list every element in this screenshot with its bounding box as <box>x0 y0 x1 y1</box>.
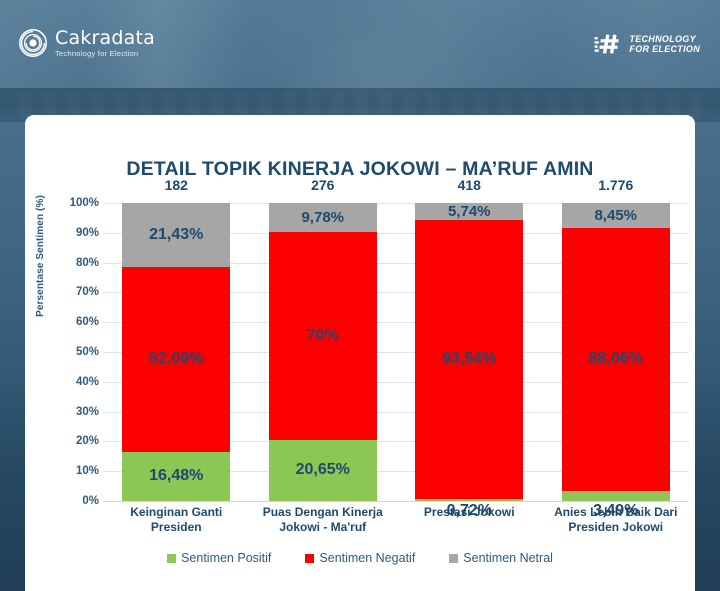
bar-segment-negatif[interactable]: 88,06% <box>562 228 670 490</box>
bar-segment-positif[interactable]: 3,49% <box>562 491 670 501</box>
bar-segment-netral[interactable]: 9,78% <box>269 203 377 232</box>
bar-segment-value-label: 20,65% <box>296 461 350 479</box>
bar-segment-netral[interactable]: 5,74% <box>415 203 523 220</box>
stacked-bars-group: 18221,43%62,09%16,48%2769,78%70%20,65%41… <box>103 203 689 501</box>
bar-segment-value-label: 70% <box>307 327 339 345</box>
y-axis-label: Persentase Sentimen (%) <box>35 181 46 331</box>
legend-label: Sentimen Positif <box>181 551 271 565</box>
legend-label: Sentimen Netral <box>463 551 553 565</box>
bar-segment-positif[interactable]: 20,65% <box>269 440 377 501</box>
bar-stack: 8,45%88,06%3,49% <box>562 203 670 501</box>
legend-swatch <box>449 554 458 563</box>
bar-total-label: 1.776 <box>543 177 690 193</box>
chart-card: DETAIL TOPIK KINERJA JOKOWI – MA’RUF AMI… <box>25 115 695 591</box>
x-axis-labels: Keinginan GantiPresidenPuas Dengan Kiner… <box>103 505 689 535</box>
bar-segment-value-label: 9,78% <box>301 209 344 226</box>
y-axis-tick-label: 80% <box>76 257 99 269</box>
right-logo-line1: TECHNOLOGY <box>629 34 700 44</box>
bar-segment-value-label: 93,54% <box>442 350 496 368</box>
y-axis-tick-label: 70% <box>76 286 99 298</box>
bar-segment-negatif[interactable]: 70% <box>269 232 377 440</box>
brand-logo-technology-for-election: TECHNOLOGY FOR ELECTION <box>594 33 700 55</box>
brand-tagline: Technology for Election <box>55 50 155 58</box>
bar-column[interactable]: 4185,74%93,54%0,72% <box>396 203 543 501</box>
right-logo-line2: FOR ELECTION <box>629 44 700 54</box>
chart-plot-area: Persentase Sentimen (%) 100%90%80%70%60%… <box>25 203 695 591</box>
legend-item[interactable]: Sentimen Negatif <box>305 551 415 565</box>
bar-segment-netral[interactable]: 8,45% <box>562 203 670 228</box>
page-header: Cakradata Technology for Election TECHNO… <box>0 0 720 95</box>
legend-swatch <box>167 554 176 563</box>
brand-name: Cakradata <box>55 29 155 48</box>
x-axis-category-label: Anies Lebih Baik DariPresiden Jokowi <box>543 505 690 535</box>
bar-segment-value-label: 5,74% <box>448 203 491 220</box>
legend-item[interactable]: Sentimen Positif <box>167 551 271 565</box>
bar-stack: 21,43%62,09%16,48% <box>122 203 230 501</box>
y-axis-tick-label: 10% <box>76 465 99 477</box>
bar-segment-positif[interactable]: 0,72% <box>415 499 523 501</box>
chart-legend: Sentimen PositifSentimen NegatifSentimen… <box>25 551 695 565</box>
bar-segment-positif[interactable]: 16,48% <box>122 452 230 501</box>
bar-segment-value-label: 21,43% <box>149 226 203 244</box>
bar-total-label: 182 <box>103 177 250 193</box>
legend-label: Sentimen Negatif <box>319 551 415 565</box>
bar-column[interactable]: 2769,78%70%20,65% <box>250 203 397 501</box>
bar-stack: 5,74%93,54%0,72% <box>415 203 523 501</box>
x-axis-category-label: Prestasi Jokowi <box>396 505 543 535</box>
bar-segment-negatif[interactable]: 62,09% <box>122 267 230 452</box>
bar-segment-value-label: 8,45% <box>594 207 637 224</box>
y-axis-tick-label: 20% <box>76 435 99 447</box>
bar-total-label: 418 <box>396 177 543 193</box>
bar-segment-value-label: 62,09% <box>149 350 203 368</box>
cakradata-spiral-icon <box>18 28 48 58</box>
legend-swatch <box>305 554 314 563</box>
bar-stack: 9,78%70%20,65% <box>269 203 377 501</box>
y-axis-tick-label: 60% <box>76 316 99 328</box>
y-axis-ticks: 100%90%80%70%60%50%40%30%20%10%0% <box>53 203 99 501</box>
y-axis-tick-label: 30% <box>76 406 99 418</box>
bar-segment-value-label: 16,48% <box>149 467 203 485</box>
bar-column[interactable]: 18221,43%62,09%16,48% <box>103 203 250 501</box>
y-axis-tick-label: 50% <box>76 346 99 358</box>
bar-total-label: 276 <box>250 177 397 193</box>
y-axis-tick-label: 90% <box>76 227 99 239</box>
y-axis-tick-label: 0% <box>82 495 99 507</box>
bar-segment-value-label: 88,06% <box>589 350 643 368</box>
bar-segment-negatif[interactable]: 93,54% <box>415 220 523 499</box>
brand-logo-cakradata: Cakradata Technology for Election <box>18 28 155 58</box>
x-axis-category-label: Keinginan GantiPresiden <box>103 505 250 535</box>
y-axis-tick-label: 100% <box>70 197 99 209</box>
y-axis-tick-label: 40% <box>76 376 99 388</box>
bar-column[interactable]: 1.7768,45%88,06%3,49% <box>543 203 690 501</box>
x-axis-category-label: Puas Dengan KinerjaJokowi - Ma'ruf <box>250 505 397 535</box>
bar-segment-netral[interactable]: 21,43% <box>122 203 230 267</box>
hashtag-icon <box>594 33 622 55</box>
legend-item[interactable]: Sentimen Netral <box>449 551 553 565</box>
